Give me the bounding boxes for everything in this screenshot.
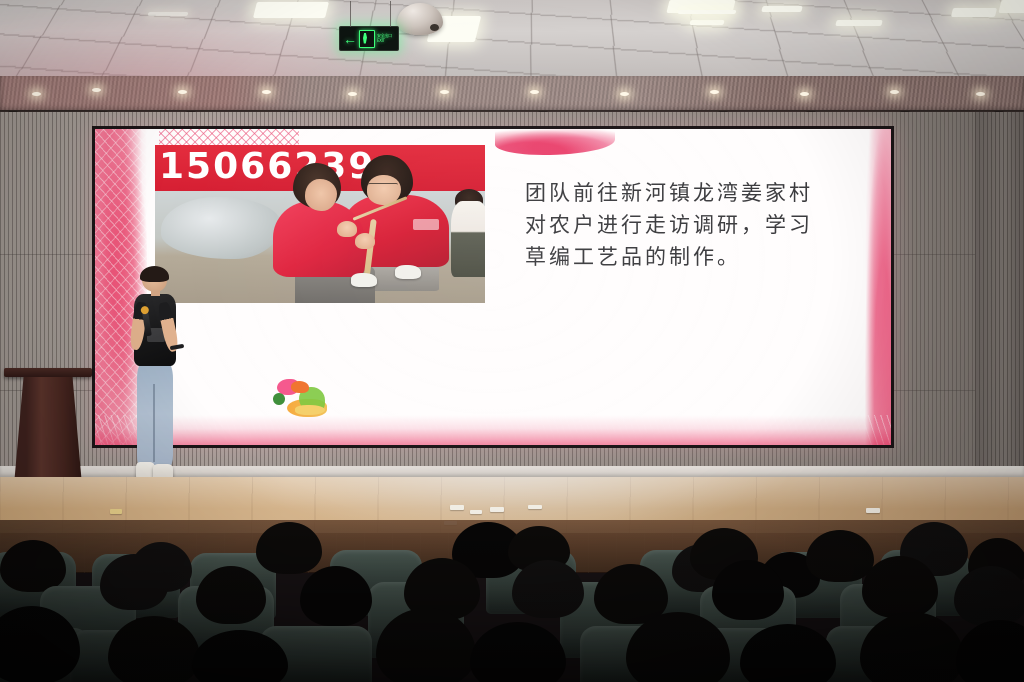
slide-border-top-flourish <box>495 129 615 155</box>
dome-camera-icon <box>397 3 443 35</box>
ceiling-panel-light <box>998 0 1024 13</box>
ceiling-panel-light <box>678 10 737 14</box>
slide-border-bottom <box>95 415 891 445</box>
exit-sign-label: 安全出口 EXIT <box>377 34 392 43</box>
slide-photo: 15066239 <box>155 145 485 303</box>
exit-sign: ← 安全出口 EXIT <box>339 26 399 51</box>
ceiling-panel-light <box>148 12 189 16</box>
running-person-exit-icon <box>359 30 375 48</box>
presenter <box>126 268 182 506</box>
slide-border-right <box>865 129 891 445</box>
ceiling-panel-light <box>835 20 882 26</box>
exit-arrow-icon: ← <box>343 32 357 46</box>
ceiling-panel-light <box>689 20 724 25</box>
projection-screen: 15066239 团队前往新河镇龙湾姜家村对农户 <box>92 126 894 448</box>
ceiling: ← 安全出口 EXIT <box>0 0 1024 78</box>
soffit-slat-band <box>0 76 1024 112</box>
auditorium-scene: ← 安全出口 EXIT <box>0 0 1024 682</box>
ceiling-panel-light <box>761 6 802 12</box>
ceiling-panel-light <box>951 8 997 17</box>
wall-corner-panel <box>975 112 1024 472</box>
audience-area <box>0 520 1024 682</box>
slide-body-text: 团队前往新河镇龙湾姜家村对农户进行走访调研，学习草编工艺品的制作。 <box>525 177 825 273</box>
slide-clipart-decoration <box>271 379 329 421</box>
ceiling-panel-light <box>253 2 329 18</box>
presentation-slide: 15066239 团队前往新河镇龙湾姜家村对农户 <box>95 129 891 445</box>
